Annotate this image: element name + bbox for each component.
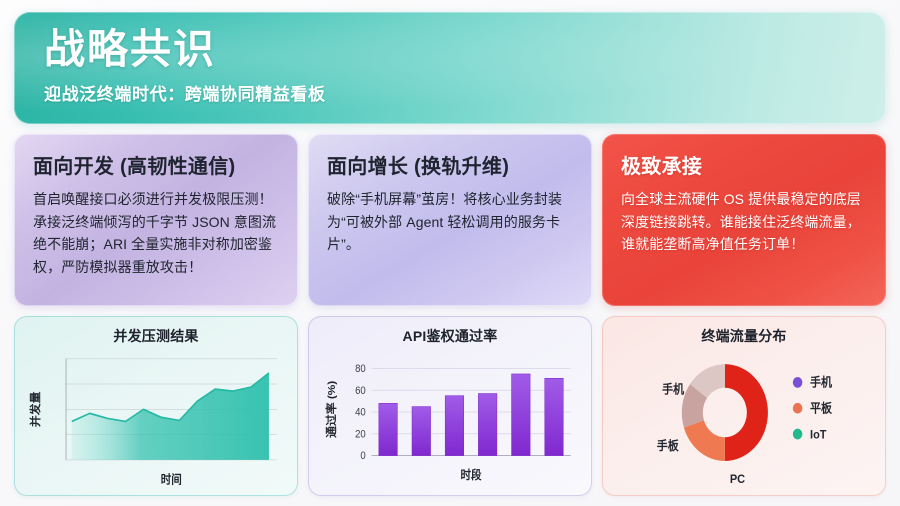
panel-stress-test: 并发压测结果 并发量时间 — [14, 316, 298, 496]
pillar-card-delivery[interactable]: 极致承接 向全球主流硬件 OS 提供最稳定的底层深度链接跳转。谁能接住泛终端流量… — [602, 134, 886, 306]
slide-root: 战略共识 迎战泛终端时代：跨端协同精益看板 面向开发 (高韧性通信) 首启唤醒接… — [0, 0, 900, 506]
page-subtitle: 迎战泛终端时代：跨端协同精益看板 — [44, 80, 886, 105]
y-axis-label: 并发量 — [29, 392, 42, 427]
pie-chart: 手机手板PC手机平板IoT — [610, 348, 878, 490]
pie-slice-label: 手机 — [662, 382, 684, 397]
area-chart: 并发量时间 — [22, 348, 290, 490]
chart-panels: 并发压测结果 并发量时间 API鉴权通过率 020406080通过率 (%)时段… — [14, 316, 886, 496]
page-title: 战略共识 — [44, 26, 886, 73]
area-chart-canvas: 并发量时间 — [22, 348, 290, 490]
y-tick-label: 80 — [355, 364, 366, 376]
pillar-card-body: 破除“手机屏幕”茧房！将核心业务封装为“可被外部 Agent 轻松调用的服务卡片… — [327, 188, 575, 256]
bar[interactable] — [445, 396, 464, 456]
pie-slice[interactable] — [725, 364, 768, 461]
pie-slice-label: 手板 — [657, 439, 679, 454]
legend-label: IoT — [810, 428, 827, 442]
y-tick-label: 60 — [355, 385, 366, 397]
legend-label: 手机 — [810, 375, 832, 390]
bar-chart-canvas: 020406080通过率 (%)时段 — [316, 348, 584, 490]
pillar-card-body: 首启唤醒接口必须进行并发极限压测！承接泛终端倾泻的千字节 JSON 意图流绝不能… — [33, 188, 281, 279]
pillar-cards: 面向开发 (高韧性通信) 首启唤醒接口必须进行并发极限压测！承接泛终端倾泻的千字… — [14, 134, 886, 306]
pie-slice-label: PC — [730, 472, 746, 486]
pillar-card-title: 面向开发 (高韧性通信) — [33, 150, 281, 179]
panel-api-auth: API鉴权通过率 020406080通过率 (%)时段 — [308, 316, 592, 496]
y-tick-label: 0 — [360, 451, 366, 463]
pillar-card-development[interactable]: 面向开发 (高韧性通信) 首启唤醒接口必须进行并发极限压测！承接泛终端倾泻的千字… — [14, 134, 298, 306]
y-tick-label: 20 — [355, 429, 366, 441]
legend-swatch — [793, 377, 803, 388]
legend-swatch — [793, 403, 803, 414]
y-tick-label: 40 — [355, 407, 366, 419]
chart-title-bar: API鉴权通过率 — [316, 326, 584, 346]
pillar-card-growth[interactable]: 面向增长 (换轨升维) 破除“手机屏幕”茧房！将核心业务封装为“可被外部 Age… — [308, 134, 592, 306]
pie-chart-canvas: 手机手板PC手机平板IoT — [610, 348, 878, 490]
y-axis-label: 通过率 (%) — [325, 380, 338, 437]
pillar-card-title: 极致承接 — [621, 150, 869, 179]
pillar-card-title: 面向增长 (换轨升维) — [327, 150, 575, 179]
bar-chart: 020406080通过率 (%)时段 — [316, 348, 584, 490]
pillar-card-body: 向全球主流硬件 OS 提供最稳定的底层深度链接跳转。谁能接住泛终端流量，谁就能垄… — [621, 188, 869, 256]
legend-label: 平板 — [810, 401, 832, 416]
x-axis-label: 时间 — [161, 472, 182, 487]
pie-slice[interactable] — [684, 420, 725, 461]
panel-terminal-traffic: 终端流量分布 手机手板PC手机平板IoT — [602, 316, 886, 496]
x-axis-label: 时段 — [461, 468, 483, 483]
bar[interactable] — [379, 403, 398, 455]
bar[interactable] — [545, 378, 564, 455]
bar[interactable] — [512, 374, 531, 456]
chart-title-area: 并发压测结果 — [22, 326, 290, 346]
legend-swatch — [793, 429, 803, 440]
bar[interactable] — [478, 394, 497, 456]
chart-title-pie: 终端流量分布 — [610, 326, 878, 346]
bar[interactable] — [412, 407, 431, 456]
header-banner: 战略共识 迎战泛终端时代：跨端协同精益看板 — [14, 12, 886, 124]
